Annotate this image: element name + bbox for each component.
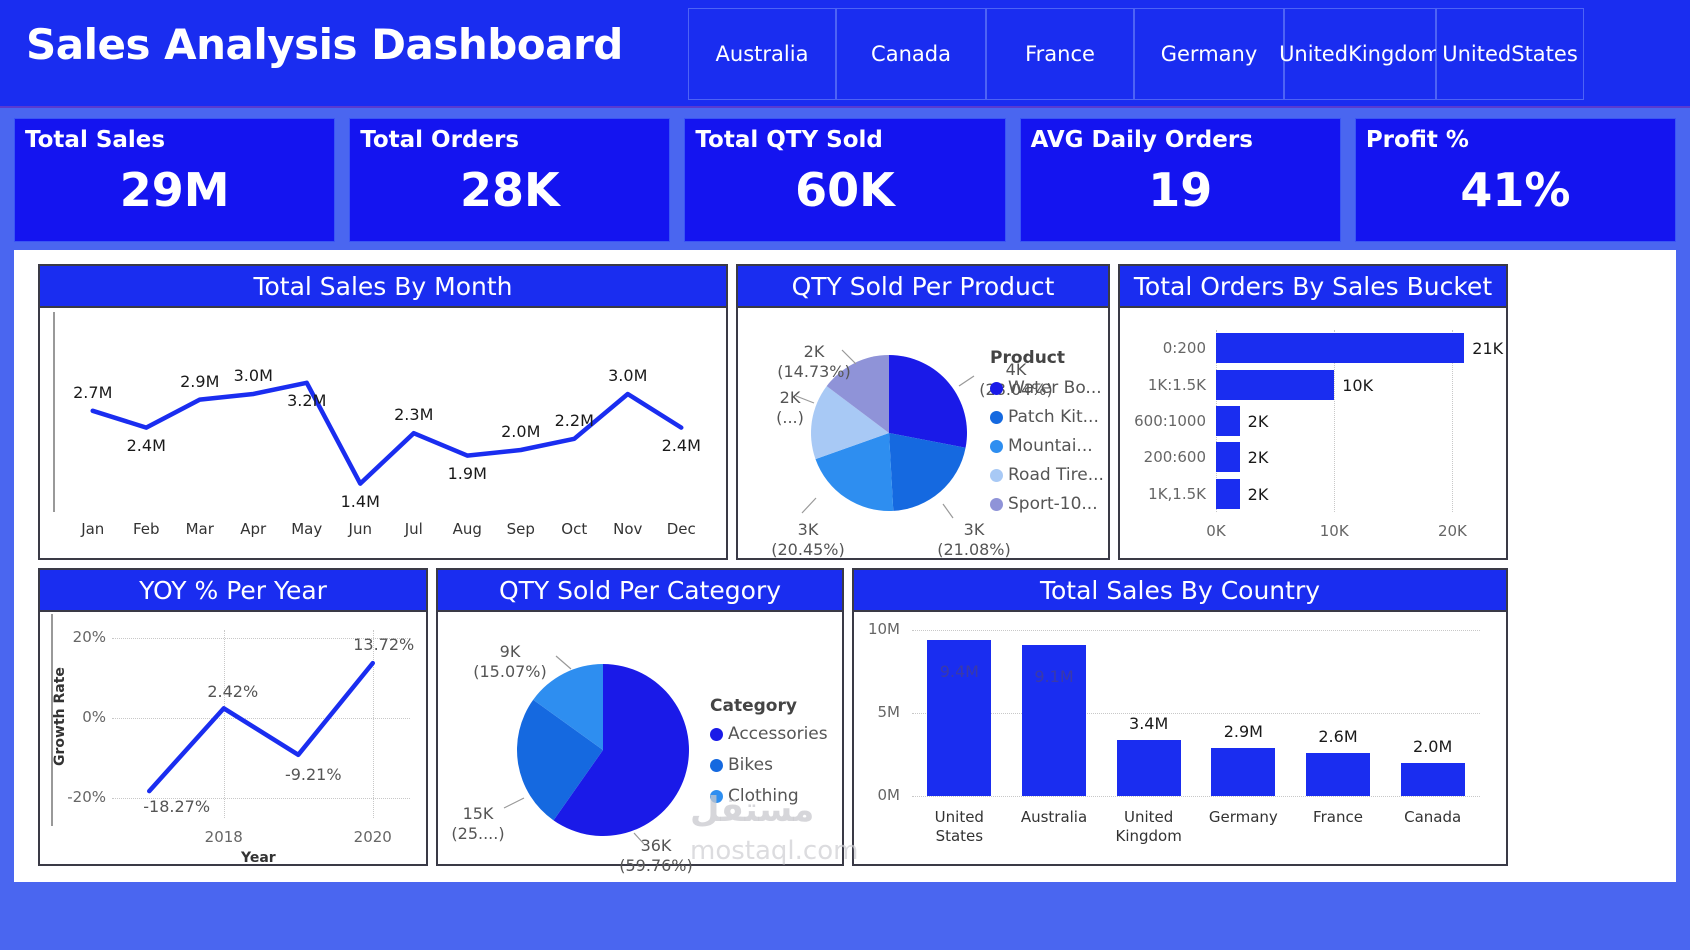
category-legend-label-0: Accessories bbox=[728, 724, 828, 744]
country-category-2: UnitedKingdom bbox=[1099, 808, 1199, 846]
bucket-bar-1K,1.5K[interactable] bbox=[1216, 479, 1240, 509]
bucket-value-label-1: 10K bbox=[1342, 376, 1373, 395]
country-value-label-0: 9.4M bbox=[913, 662, 1005, 681]
kpi-label-4: Profit % bbox=[1366, 127, 1469, 153]
month-data-label-Jun: 1.4M bbox=[338, 492, 382, 511]
country-category-0: UnitedStates bbox=[909, 808, 1009, 846]
kpi-label-3: AVG Daily Orders bbox=[1031, 127, 1253, 153]
bucket-value-label-4: 2K bbox=[1248, 485, 1269, 504]
bucket-xtick-20K: 20K bbox=[1427, 522, 1477, 540]
country-slicer[interactable]: AustraliaCanadaFranceGermanyUnitedKingdo… bbox=[688, 8, 1584, 100]
month-axis-label-Sep: Sep bbox=[496, 520, 546, 538]
bucket-xtick-0K: 0K bbox=[1191, 522, 1241, 540]
category-legend-label-2: Clothing bbox=[728, 786, 799, 806]
yoy-data-label-0: -18.27% bbox=[143, 797, 209, 816]
country-bar-3[interactable] bbox=[1211, 748, 1275, 796]
yoy-data-label-2: -9.21% bbox=[280, 765, 346, 784]
viz-total-sales-by-month[interactable]: Total Sales By Month 2.7M2.4M2.9M3.0M3.2… bbox=[38, 264, 728, 560]
line-chart-yoy: 20%0%-20%-18.27%2.42%-9.21%13.72%2018202… bbox=[40, 612, 426, 862]
report-canvas: Total Sales By Month 2.7M2.4M2.9M3.0M3.2… bbox=[14, 250, 1676, 882]
legend-dot-icon bbox=[990, 469, 1003, 482]
legend-dot-icon bbox=[990, 382, 1003, 395]
category-legend-item-0[interactable]: Accessories bbox=[710, 724, 828, 744]
legend-dot-icon bbox=[990, 498, 1003, 511]
product-callout-pct-mountain: (20.45%) bbox=[768, 540, 848, 559]
country-value-label-2: 3.4M bbox=[1103, 714, 1195, 733]
bucket-bar-1K:1.5K[interactable] bbox=[1216, 370, 1334, 400]
product-legend-label-3: Road Tire... bbox=[1008, 465, 1104, 485]
product-legend-item-2[interactable]: Mountai... bbox=[990, 436, 1093, 456]
category-callout-value-clothing: 9K bbox=[470, 642, 550, 661]
country-ytick-2: 0M bbox=[854, 786, 900, 804]
bucket-value-label-0: 21K bbox=[1472, 339, 1503, 358]
product-slice-0[interactable] bbox=[889, 355, 967, 448]
dashboard-header: Sales Analysis Dashboard AustraliaCanada… bbox=[0, 0, 1690, 108]
month-axis-label-Mar: Mar bbox=[175, 520, 225, 538]
product-legend-item-3[interactable]: Road Tire... bbox=[990, 465, 1104, 485]
month-data-label-Apr: 3.0M bbox=[231, 366, 275, 385]
yoy-data-label-3: 13.72% bbox=[351, 635, 417, 654]
month-data-label-Mar: 2.9M bbox=[178, 372, 222, 391]
month-data-label-Feb: 2.4M bbox=[124, 436, 168, 455]
product-legend-label-1: Patch Kit... bbox=[1008, 407, 1099, 427]
kpi-value-4: 41% bbox=[1356, 163, 1675, 217]
viz-title-total-sales-by-month: Total Sales By Month bbox=[40, 266, 726, 308]
country-bar-5[interactable] bbox=[1401, 763, 1465, 796]
month-axis-label-Jul: Jul bbox=[389, 520, 439, 538]
category-callout-pct-accessories: (59.76%) bbox=[616, 856, 696, 875]
country-category-5: Canada bbox=[1383, 808, 1483, 827]
month-axis-label-Jun: Jun bbox=[335, 520, 385, 538]
month-data-label-May: 3.2M bbox=[285, 391, 329, 410]
month-axis-label-Jan: Jan bbox=[68, 520, 118, 538]
month-data-label-Aug: 1.9M bbox=[445, 464, 489, 483]
month-axis-label-Apr: Apr bbox=[228, 520, 278, 538]
country-gridline-1 bbox=[912, 713, 1480, 714]
yoy-xtick-2018: 2018 bbox=[194, 828, 254, 846]
bar-chart-country: 10M5M0M9.4MUnitedStates9.1MAustralia3.4M… bbox=[854, 612, 1506, 862]
line-chart-month: 2.7M2.4M2.9M3.0M3.2M1.4M2.3M1.9M2.0M2.2M… bbox=[40, 308, 726, 556]
country-category-3: Germany bbox=[1193, 808, 1293, 827]
viz-title-yoy-percent-per-year: YOY % Per Year bbox=[40, 570, 426, 612]
legend-dot-icon bbox=[710, 790, 723, 803]
viz-title-qty-sold-per-product: QTY Sold Per Product bbox=[738, 266, 1108, 308]
slicer-button-united-kingdom[interactable]: UnitedKingdom bbox=[1284, 8, 1436, 100]
month-data-label-Oct: 2.2M bbox=[552, 411, 596, 430]
viz-title-total-sales-by-country: Total Sales By Country bbox=[854, 570, 1506, 612]
legend-dot-icon bbox=[990, 440, 1003, 453]
country-gridline-2 bbox=[912, 796, 1480, 797]
bucket-xtick-10K: 10K bbox=[1309, 522, 1359, 540]
category-callout-pct-bikes: (25....) bbox=[438, 824, 518, 843]
kpi-label-0: Total Sales bbox=[25, 127, 165, 153]
product-legend-item-4[interactable]: Sport-10... bbox=[990, 494, 1098, 514]
kpi-row: Total Sales29MTotal Orders28KTotal QTY S… bbox=[0, 110, 1690, 252]
slicer-button-france[interactable]: France bbox=[986, 8, 1134, 100]
kpi-card-3[interactable]: AVG Daily Orders19 bbox=[1020, 118, 1341, 242]
kpi-value-3: 19 bbox=[1021, 163, 1340, 217]
product-legend-label-0: Water Bo... bbox=[1008, 378, 1102, 398]
product-callout-value-mountain: 3K bbox=[768, 520, 848, 539]
bucket-category-1: 1K:1.5K bbox=[1120, 376, 1206, 394]
kpi-value-0: 29M bbox=[15, 163, 334, 217]
slicer-button-germany[interactable]: Germany bbox=[1134, 8, 1284, 100]
month-axis-label-Aug: Aug bbox=[442, 520, 492, 538]
country-category-4: France bbox=[1288, 808, 1388, 827]
category-callout-pct-clothing: (15.07%) bbox=[470, 662, 550, 681]
viz-total-sales-by-country[interactable]: Total Sales By Country 10M5M0M9.4MUnited… bbox=[852, 568, 1508, 866]
month-axis-label-Feb: Feb bbox=[121, 520, 171, 538]
pie-chart-category: 36K(59.76%)15K(25....)9K(15.07%)Category… bbox=[438, 612, 842, 862]
country-category-1: Australia bbox=[1004, 808, 1104, 827]
product-callout-pct-sport-100: (14.73%) bbox=[774, 362, 854, 381]
product-callout-pct-road-tire: (...) bbox=[750, 408, 830, 427]
product-legend-title: Product bbox=[990, 348, 1065, 368]
viz-qty-sold-per-category[interactable]: QTY Sold Per Category 36K(59.76%)15K(25.… bbox=[436, 568, 844, 866]
yoy-x-axis-title: Year bbox=[241, 850, 276, 866]
kpi-label-2: Total QTY Sold bbox=[695, 127, 882, 153]
bucket-bar-200:600[interactable] bbox=[1216, 442, 1240, 472]
viz-title-total-orders-by-sales-bucket: Total Orders By Sales Bucket bbox=[1120, 266, 1506, 308]
bucket-category-4: 1K,1.5K bbox=[1120, 485, 1206, 503]
product-legend-label-4: Sport-10... bbox=[1008, 494, 1098, 514]
yoy-xtick-2020: 2020 bbox=[343, 828, 403, 846]
country-value-label-5: 2.0M bbox=[1387, 737, 1479, 756]
month-data-label-Dec: 2.4M bbox=[659, 436, 703, 455]
country-value-label-1: 9.1M bbox=[1008, 667, 1100, 686]
product-callout-value-sport-100: 2K bbox=[774, 342, 854, 361]
bucket-category-2: 600:1000 bbox=[1120, 412, 1206, 430]
country-gridline-0 bbox=[912, 630, 1480, 631]
product-callout-value-patch-kit: 3K bbox=[934, 520, 1014, 539]
legend-dot-icon bbox=[990, 411, 1003, 424]
viz-qty-sold-per-product[interactable]: QTY Sold Per Product 4K(28.04%)3K(21.08%… bbox=[736, 264, 1110, 560]
kpi-value-2: 60K bbox=[685, 163, 1004, 217]
product-legend-item-1[interactable]: Patch Kit... bbox=[990, 407, 1099, 427]
country-ytick-0: 10M bbox=[854, 620, 900, 638]
yoy-y-axis-title: Growth Rate bbox=[52, 667, 68, 766]
kpi-card-4[interactable]: Profit %41% bbox=[1355, 118, 1676, 242]
country-ytick-1: 5M bbox=[854, 703, 900, 721]
slicer-button-canada[interactable]: Canada bbox=[836, 8, 986, 100]
bar-chart-bucket: 0K10K20K0:20021K1K:1.5K10K600:10002K200:… bbox=[1120, 308, 1506, 556]
dashboard-page: Sales Analysis Dashboard AustraliaCanada… bbox=[0, 0, 1690, 950]
month-data-label-Nov: 3.0M bbox=[606, 366, 650, 385]
month-axis-label-Nov: Nov bbox=[603, 520, 653, 538]
bucket-value-label-2: 2K bbox=[1248, 412, 1269, 431]
country-value-label-3: 2.9M bbox=[1197, 722, 1289, 741]
bucket-category-3: 200:600 bbox=[1120, 448, 1206, 466]
category-callout-value-bikes: 15K bbox=[438, 804, 518, 823]
kpi-label-1: Total Orders bbox=[360, 127, 519, 153]
month-data-label-Sep: 2.0M bbox=[499, 422, 543, 441]
bucket-category-0: 0:200 bbox=[1120, 339, 1206, 357]
country-value-label-4: 2.6M bbox=[1292, 727, 1384, 746]
kpi-value-1: 28K bbox=[350, 163, 669, 217]
yoy-data-label-1: 2.42% bbox=[200, 682, 266, 701]
kpi-card-1[interactable]: Total Orders28K bbox=[349, 118, 670, 242]
product-legend-label-2: Mountai... bbox=[1008, 436, 1093, 456]
month-data-label-Jan: 2.7M bbox=[71, 383, 115, 402]
kpi-card-2[interactable]: Total QTY Sold60K bbox=[684, 118, 1005, 242]
country-bar-4[interactable] bbox=[1306, 753, 1370, 796]
month-axis-label-Oct: Oct bbox=[549, 520, 599, 538]
category-legend-label-1: Bikes bbox=[728, 755, 773, 775]
country-bar-2[interactable] bbox=[1117, 740, 1181, 796]
category-legend-item-2[interactable]: Clothing bbox=[710, 786, 799, 806]
month-axis-label-May: May bbox=[282, 520, 332, 538]
bucket-bar-0:200[interactable] bbox=[1216, 333, 1464, 363]
bucket-value-label-3: 2K bbox=[1248, 448, 1269, 467]
legend-dot-icon bbox=[710, 759, 723, 772]
kpi-card-0[interactable]: Total Sales29M bbox=[14, 118, 335, 242]
viz-yoy-percent-per-year[interactable]: YOY % Per Year 20%0%-20%-18.27%2.42%-9.2… bbox=[38, 568, 428, 866]
pie-chart-product: 4K(28.04%)3K(21.08%)3K(20.45%)2K(...)2K(… bbox=[738, 308, 1108, 556]
product-callout-value-road-tire: 2K bbox=[750, 388, 830, 407]
month-data-label-Jul: 2.3M bbox=[392, 405, 436, 424]
page-title: Sales Analysis Dashboard bbox=[26, 20, 623, 69]
month-axis-label-Dec: Dec bbox=[656, 520, 706, 538]
category-callout-value-accessories: 36K bbox=[616, 836, 696, 855]
slicer-button-australia[interactable]: Australia bbox=[688, 8, 836, 100]
category-legend-item-1[interactable]: Bikes bbox=[710, 755, 773, 775]
bucket-bar-600:1000[interactable] bbox=[1216, 406, 1240, 436]
slicer-button-united-states[interactable]: UnitedStates bbox=[1436, 8, 1584, 100]
viz-title-qty-sold-per-category: QTY Sold Per Category bbox=[438, 570, 842, 612]
category-legend-title: Category bbox=[710, 696, 797, 716]
product-callout-pct-patch-kit: (21.08%) bbox=[934, 540, 1014, 559]
legend-dot-icon bbox=[710, 728, 723, 741]
viz-total-orders-by-sales-bucket[interactable]: Total Orders By Sales Bucket 0K10K20K0:2… bbox=[1118, 264, 1508, 560]
product-legend-item-0[interactable]: Water Bo... bbox=[990, 378, 1102, 398]
